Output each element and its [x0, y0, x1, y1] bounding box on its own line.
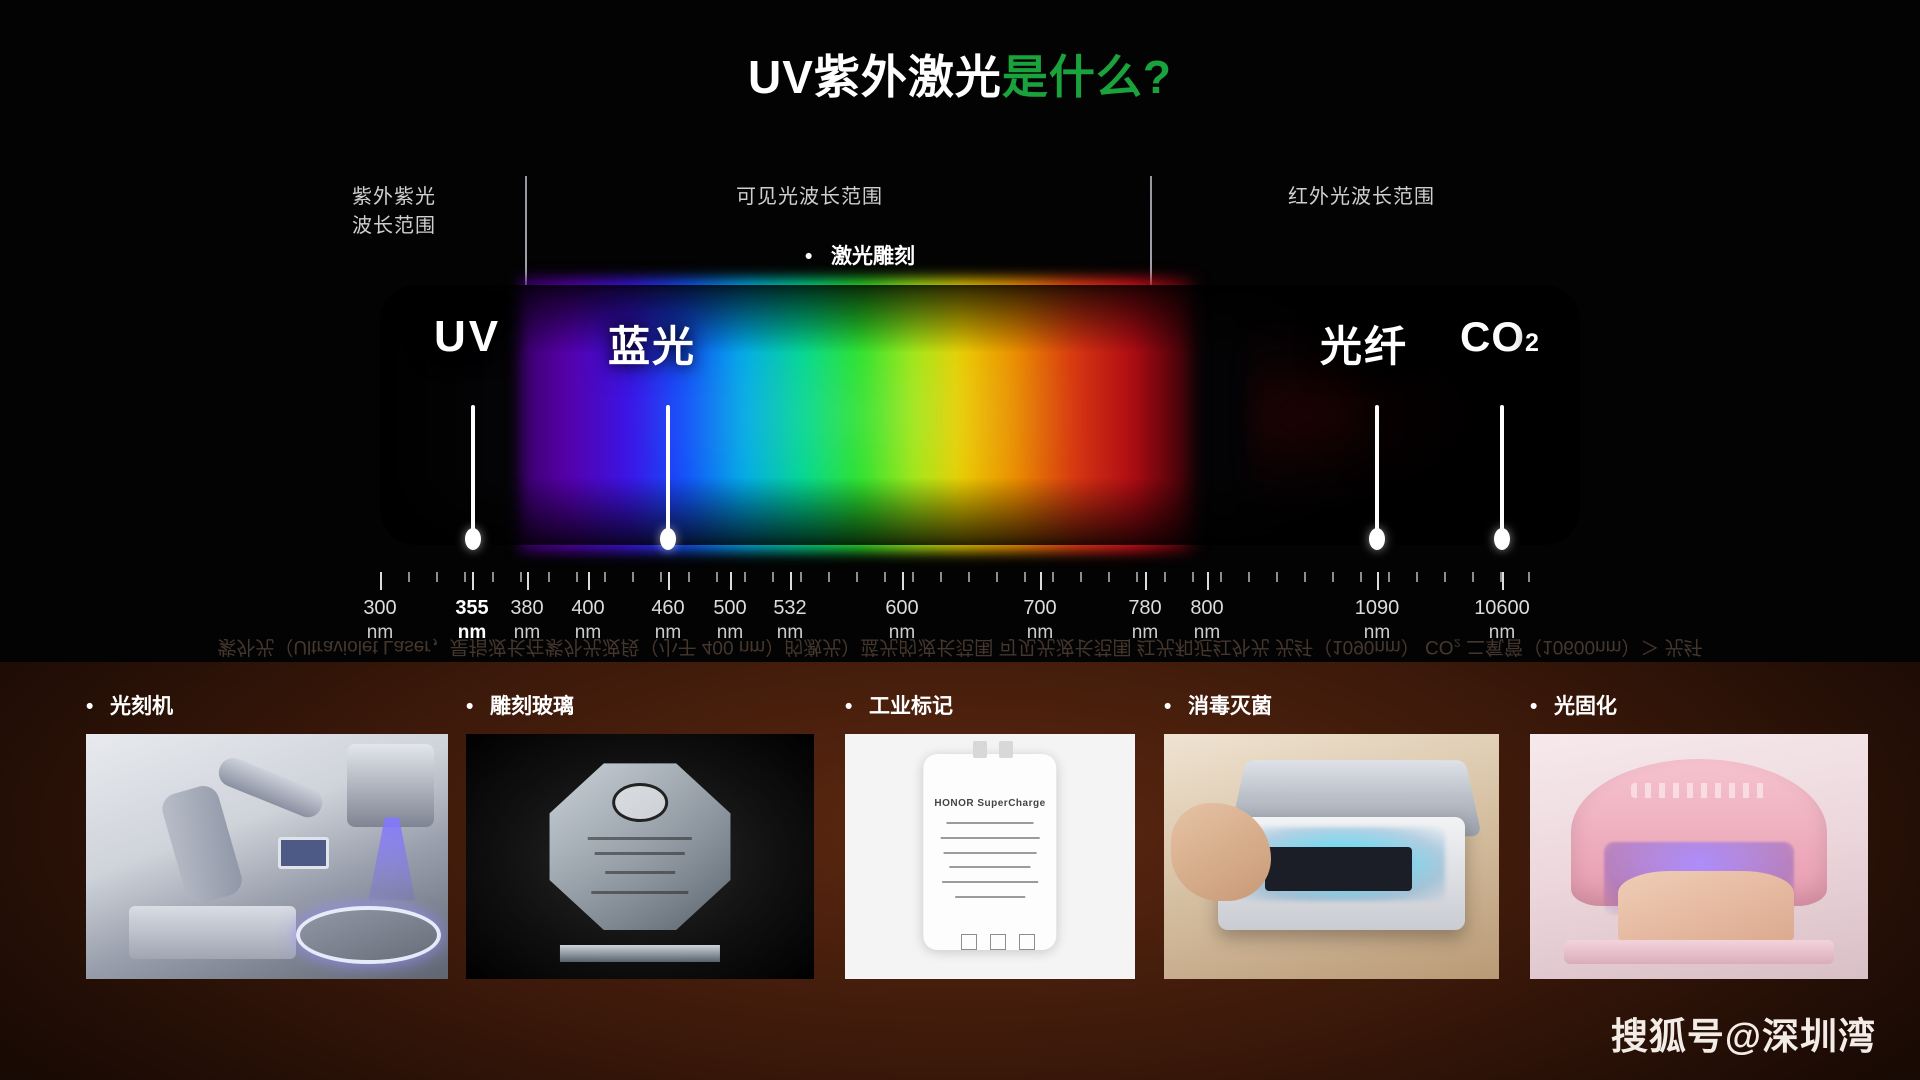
ruler-value: 780	[1128, 597, 1161, 619]
ruler-minor-tick	[1444, 572, 1446, 582]
ruler-value: 10600	[1474, 597, 1530, 619]
bullet-icon: •	[466, 695, 490, 719]
laser-engraving-note: •激光雕刻	[805, 240, 915, 270]
glass-engraved-line	[605, 871, 675, 874]
ruler-major-tick-380	[527, 572, 529, 590]
ruler-minor-tick	[520, 572, 522, 582]
ruler-value: 300	[363, 597, 396, 619]
ruler-minor-tick	[884, 572, 886, 582]
ruler-major-tick-10600	[1502, 572, 1504, 590]
ruler-minor-tick	[1164, 572, 1166, 582]
ruler-minor-tick	[716, 572, 718, 582]
application-image-3	[1164, 734, 1499, 979]
litho-base	[129, 906, 296, 960]
ruler-minor-tick	[1108, 572, 1110, 582]
charger-certification-mark	[990, 934, 1006, 950]
ruler-unit: nm	[510, 621, 543, 645]
ruler-major-tick-400	[588, 572, 590, 590]
ruler-minor-tick	[1472, 572, 1474, 582]
uv-nail-curing-lamp-photo	[1530, 734, 1868, 979]
ruler-minor-tick	[940, 572, 942, 582]
band-label-fiber: 光纤	[1320, 313, 1408, 374]
marker-knob	[1494, 528, 1510, 550]
charger-certification-mark	[961, 934, 977, 950]
page-title-white: UV紫外激光	[748, 51, 1002, 103]
charger-laser-marking-photo: HONOR SuperCharge	[845, 734, 1135, 979]
bullet-icon: •	[86, 695, 110, 719]
application-caption-0: •光刻机	[86, 690, 448, 720]
ruler-minor-tick	[1248, 572, 1250, 582]
ruler-minor-tick	[688, 572, 690, 582]
watermark: 搜狐号@深圳湾	[1611, 1006, 1876, 1060]
ruler-minor-tick	[744, 572, 746, 582]
litho-uv-beam	[368, 817, 415, 900]
ruler-value: 1090	[1355, 597, 1400, 619]
marker-stem	[471, 405, 475, 542]
glass-engraved-line	[588, 837, 692, 840]
application-caption-3: •消毒灭菌	[1164, 690, 1499, 720]
charger-prong	[973, 741, 988, 758]
application-image-0	[86, 734, 448, 979]
band-label-co2-text: CO	[1460, 313, 1525, 360]
ruler-label-500: 500nm	[713, 596, 746, 645]
ruler-minor-tick	[576, 572, 578, 582]
ruler-unit: nm	[1128, 621, 1161, 645]
ruler-minor-tick	[1388, 572, 1390, 582]
ruler-minor-tick	[1276, 572, 1278, 582]
charger-prong	[999, 741, 1014, 758]
ruler-minor-tick	[1304, 572, 1306, 582]
ruler-value: 355	[455, 597, 488, 619]
wavelength-ruler: 300nm355nm380nm400nm460nm500nm532nm600nm…	[0, 572, 1920, 662]
litho-lens	[347, 744, 434, 827]
application-caption-2: •工业标记	[845, 690, 1135, 720]
ruler-minor-tick	[660, 572, 662, 582]
ruler-major-tick-800	[1207, 572, 1209, 590]
ruler-value: 500	[713, 597, 746, 619]
ruler-major-tick-700	[1040, 572, 1042, 590]
band-label-co2-subscript: 2	[1525, 329, 1540, 357]
ruler-unit: nm	[455, 621, 488, 645]
ruler-label-460: 460nm	[651, 596, 684, 645]
ruler-label-300: 300nm	[363, 596, 396, 645]
band-label-co2: CO2	[1460, 313, 1540, 361]
uv-sterilizer-box-photo	[1164, 734, 1499, 979]
ruler-minor-tick	[408, 572, 410, 582]
engraved-glass-award-photo	[466, 734, 814, 979]
ruler-minor-tick	[828, 572, 830, 582]
ruler-unit: nm	[713, 621, 746, 645]
application-label-4: 光固化	[1554, 695, 1617, 718]
litho-robot-arm-upper	[215, 754, 327, 822]
marker-stem	[1500, 405, 1504, 542]
ruler-minor-tick	[1332, 572, 1334, 582]
ruler-minor-tick	[1416, 572, 1418, 582]
ruler-label-600: 600nm	[885, 596, 918, 645]
marker-knob	[465, 528, 481, 550]
bullet-icon: •	[1530, 695, 1554, 719]
band-label-blue: 蓝光	[608, 313, 696, 374]
ruler-major-tick-1090	[1377, 572, 1379, 590]
ruler-value: 532	[773, 597, 806, 619]
ruler-major-tick-532	[790, 572, 792, 590]
ruler-unit: nm	[1023, 621, 1056, 645]
hand	[1618, 871, 1794, 945]
range-header-uv: 紫外紫光波长范围	[352, 183, 436, 241]
ruler-unit: nm	[571, 621, 604, 645]
ruler-minor-tick	[632, 572, 634, 582]
charger-brand-text: HONOR SuperCharge	[934, 798, 1045, 809]
ruler-unit: nm	[651, 621, 684, 645]
laser-engraving-label: 激光雕刻	[831, 245, 915, 268]
ruler-minor-tick	[1192, 572, 1194, 582]
ruler-minor-tick	[968, 572, 970, 582]
ruler-unit: nm	[1474, 621, 1530, 645]
charger-printed-line	[955, 896, 1025, 898]
marker-stem	[1375, 405, 1379, 542]
ruler-label-355: 355nm	[455, 596, 488, 645]
charger-printed-line	[942, 881, 1038, 883]
ruler-minor-tick	[1136, 572, 1138, 582]
ruler-major-tick-300	[380, 572, 382, 590]
ruler-minor-tick	[1052, 572, 1054, 582]
application-image-1	[466, 734, 814, 979]
ruler-major-tick-460	[668, 572, 670, 590]
ruler-label-532: 532nm	[773, 596, 806, 645]
ruler-minor-tick	[492, 572, 494, 582]
marker-stem	[666, 405, 670, 542]
marker-pin-355	[471, 405, 475, 542]
marker-pin-10600	[1500, 405, 1504, 542]
ruler-unit: nm	[885, 621, 918, 645]
spectrum-section: UV紫外激光是什么? 紫外紫光波长范围 可见光波长范围 红外光波长范围 •激光雕…	[0, 0, 1920, 662]
charger-certification-mark	[1019, 934, 1035, 950]
ruler-value: 460	[651, 597, 684, 619]
ruler-value: 800	[1190, 597, 1223, 619]
ruler-minor-tick	[1528, 572, 1530, 582]
ruler-minor-tick	[996, 572, 998, 582]
phone-inside-sterilizer	[1265, 847, 1412, 891]
application-label-2: 工业标记	[869, 695, 953, 718]
litho-stage-ring	[296, 906, 441, 965]
ruler-minor-tick	[464, 572, 466, 582]
application-label-3: 消毒灭菌	[1188, 695, 1272, 718]
ruler-major-tick-355	[472, 572, 474, 590]
ruler-minor-tick	[1220, 572, 1222, 582]
application-image-2: HONOR SuperCharge	[845, 734, 1135, 979]
application-caption-1: •雕刻玻璃	[466, 690, 814, 720]
nail-lamp-base	[1564, 940, 1834, 965]
charger-printed-line	[941, 837, 1040, 839]
ruler-unit: nm	[363, 621, 396, 645]
marker-pin-1090	[1375, 405, 1379, 542]
litho-robot-arm-lower	[158, 782, 245, 906]
ruler-minor-tick	[1080, 572, 1082, 582]
page-title-green: 是什么?	[1002, 51, 1172, 103]
ruler-value: 700	[1023, 597, 1056, 619]
bullet-icon: •	[805, 245, 831, 269]
ruler-label-10600: 10600nm	[1474, 596, 1530, 645]
ruler-label-700: 700nm	[1023, 596, 1056, 645]
ruler-unit: nm	[773, 621, 806, 645]
ruler-minor-tick	[772, 572, 774, 582]
application-caption-4: •光固化	[1530, 690, 1868, 720]
lithography-machine-photo	[86, 734, 448, 979]
slide-canvas: UV紫外激光是什么? 紫外紫光波长范围 可见光波长范围 红外光波长范围 •激光雕…	[0, 0, 1920, 1080]
bullet-icon: •	[1164, 695, 1188, 719]
ruler-value: 400	[571, 597, 604, 619]
glass-engraved-line	[595, 852, 685, 855]
bullet-icon: •	[845, 695, 869, 719]
ruler-minor-tick	[1024, 572, 1026, 582]
ruler-label-380: 380nm	[510, 596, 543, 645]
ruler-minor-tick	[856, 572, 858, 582]
glass-seal-emblem	[612, 783, 668, 822]
ruler-minor-tick	[436, 572, 438, 582]
ruler-label-1090: 1090nm	[1355, 596, 1400, 645]
ruler-minor-tick	[1360, 572, 1362, 582]
applications-section: •光刻机 •雕刻玻璃	[0, 662, 1920, 1080]
range-header-visible: 可见光波长范围	[736, 183, 883, 212]
marker-knob	[660, 528, 676, 550]
ruler-unit: nm	[1355, 621, 1400, 645]
ruler-label-800: 800nm	[1190, 596, 1223, 645]
page-title: UV紫外激光是什么?	[0, 52, 1920, 103]
marker-pin-460	[666, 405, 670, 542]
ruler-value: 600	[885, 597, 918, 619]
ruler-value: 380	[510, 597, 543, 619]
ruler-label-780: 780nm	[1128, 596, 1161, 645]
application-label-0: 光刻机	[110, 695, 173, 718]
glass-engraved-line	[591, 891, 688, 894]
litho-wafer-chip	[278, 837, 329, 869]
ruler-major-tick-500	[730, 572, 732, 590]
marker-knob	[1369, 528, 1385, 550]
charger-printed-line	[944, 852, 1037, 854]
nail-lamp-led-row	[1631, 783, 1766, 798]
application-image-4	[1530, 734, 1868, 979]
ruler-label-400: 400nm	[571, 596, 604, 645]
band-label-uv: UV	[434, 312, 501, 362]
ruler-minor-tick	[912, 572, 914, 582]
ruler-minor-tick	[800, 572, 802, 582]
charger-printed-line	[947, 822, 1034, 824]
ruler-minor-tick	[604, 572, 606, 582]
charger-printed-line	[949, 866, 1030, 868]
ruler-major-tick-780	[1145, 572, 1147, 590]
ruler-major-tick-600	[902, 572, 904, 590]
range-header-infrared: 红外光波长范围	[1288, 183, 1435, 212]
ruler-unit: nm	[1190, 621, 1223, 645]
application-label-1: 雕刻玻璃	[490, 695, 574, 718]
glass-stand	[560, 945, 720, 962]
ruler-minor-tick	[548, 572, 550, 582]
